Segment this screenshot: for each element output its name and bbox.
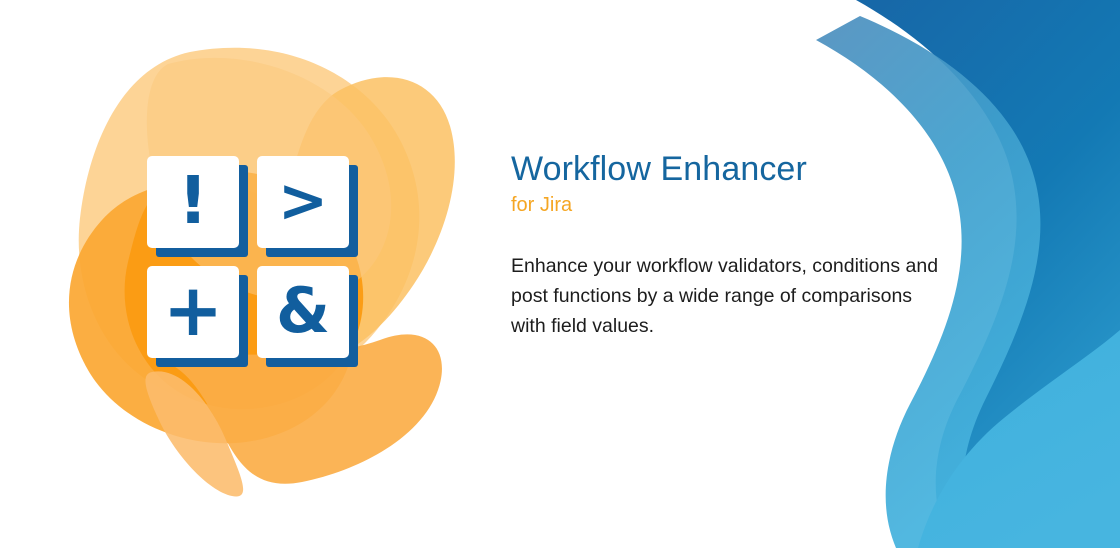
tile-face: & — [257, 266, 349, 358]
ampersand-icon: & — [276, 280, 330, 342]
tile-ampersand: & — [257, 266, 349, 358]
product-description: Enhance your workflow validators, condit… — [511, 251, 941, 341]
promo-banner: ! > + & — [0, 0, 1120, 548]
workflow-enhancer-logo: ! > + & — [40, 30, 480, 520]
exclamation-icon: ! — [178, 168, 208, 234]
product-subtitle: for Jira — [511, 193, 941, 217]
operator-tile-grid: ! > + & — [147, 156, 367, 376]
tile-greater-than: > — [257, 156, 349, 248]
wave-navy-outer — [950, 0, 1120, 548]
tile-plus: + — [147, 266, 239, 358]
tile-face: ! — [147, 156, 239, 248]
page-title: Workflow Enhancer — [511, 150, 941, 189]
copy-block: Workflow Enhancer for Jira Enhance your … — [511, 150, 941, 341]
wave-cyan-bottom — [918, 330, 1120, 548]
greater-than-icon: > — [278, 171, 328, 231]
tile-face: > — [257, 156, 349, 248]
tile-exclamation: ! — [147, 156, 239, 248]
plus-icon: + — [163, 274, 223, 346]
tile-face: + — [147, 266, 239, 358]
